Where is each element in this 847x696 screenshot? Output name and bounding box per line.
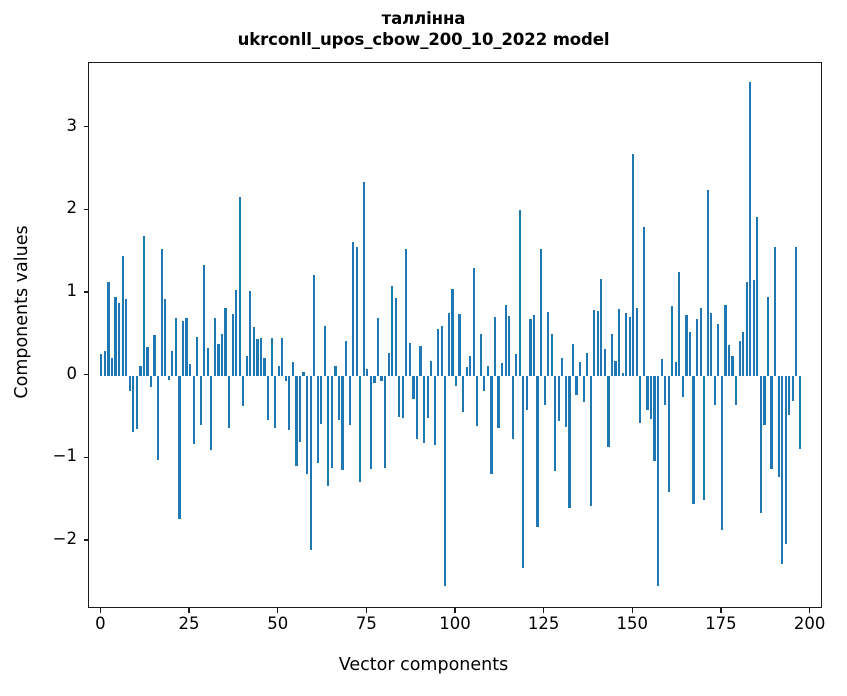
bar bbox=[763, 376, 765, 426]
bar bbox=[437, 329, 439, 375]
bar bbox=[494, 317, 496, 376]
y-tick-mark bbox=[84, 209, 89, 210]
bar bbox=[398, 376, 400, 417]
x-tick-label: 0 bbox=[95, 614, 106, 633]
bar bbox=[310, 376, 312, 551]
bar bbox=[423, 376, 425, 443]
bar bbox=[150, 376, 152, 388]
bar bbox=[664, 376, 666, 406]
bar bbox=[405, 249, 407, 376]
bar bbox=[288, 376, 290, 431]
bar bbox=[441, 326, 443, 376]
bar bbox=[246, 356, 248, 376]
bar bbox=[685, 315, 687, 375]
bar bbox=[604, 349, 606, 375]
bar bbox=[455, 376, 457, 386]
chart-title: таллінна ukrconll_upos_cbow_200_10_2022 … bbox=[0, 8, 847, 50]
bar bbox=[324, 326, 326, 376]
bar bbox=[132, 376, 134, 432]
bar bbox=[611, 334, 613, 375]
x-tick-mark bbox=[809, 608, 810, 613]
bar bbox=[157, 376, 159, 460]
bar bbox=[207, 348, 209, 376]
bar bbox=[650, 376, 652, 419]
bar bbox=[338, 376, 340, 421]
x-tick-label: 150 bbox=[617, 614, 649, 633]
bar bbox=[770, 376, 772, 469]
bar bbox=[597, 311, 599, 376]
bar bbox=[122, 256, 124, 376]
bar bbox=[171, 351, 173, 376]
bar bbox=[703, 376, 705, 500]
bar bbox=[657, 376, 659, 586]
bar bbox=[427, 376, 429, 418]
bar bbox=[175, 318, 177, 376]
bar bbox=[168, 376, 170, 380]
bar bbox=[469, 356, 471, 376]
bar bbox=[497, 376, 499, 428]
bar bbox=[526, 376, 528, 410]
bar bbox=[260, 338, 262, 376]
bar bbox=[210, 376, 212, 450]
x-tick-mark bbox=[632, 608, 633, 613]
bar bbox=[327, 376, 329, 486]
bar bbox=[721, 376, 723, 531]
bar bbox=[586, 353, 588, 375]
bar bbox=[412, 376, 414, 399]
bar bbox=[785, 376, 787, 544]
chart-title-line-2: ukrconll_upos_cbow_200_10_2022 model bbox=[0, 29, 847, 50]
bar bbox=[622, 373, 624, 375]
bar bbox=[185, 318, 187, 376]
bar bbox=[614, 361, 616, 376]
bar bbox=[302, 372, 304, 376]
bar bbox=[629, 317, 631, 376]
bar bbox=[256, 339, 258, 375]
y-tick-mark bbox=[84, 291, 89, 292]
bar bbox=[395, 298, 397, 376]
y-tick-label: 1 bbox=[0, 281, 77, 300]
bar bbox=[267, 376, 269, 421]
bar bbox=[214, 318, 216, 376]
bar bbox=[341, 376, 343, 470]
x-tick-label: 100 bbox=[439, 614, 471, 633]
x-tick-mark bbox=[720, 608, 721, 613]
bar bbox=[473, 268, 475, 376]
bar bbox=[544, 376, 546, 405]
bar bbox=[235, 290, 237, 376]
bar bbox=[536, 376, 538, 527]
y-tick-label: −1 bbox=[0, 446, 77, 465]
bar bbox=[710, 313, 712, 376]
bar bbox=[724, 305, 726, 375]
bar bbox=[579, 362, 581, 376]
bar bbox=[299, 376, 301, 442]
bar bbox=[107, 282, 109, 375]
bar bbox=[451, 289, 453, 376]
bar bbox=[391, 286, 393, 375]
bar bbox=[249, 291, 251, 376]
bar bbox=[515, 354, 517, 376]
bar bbox=[388, 353, 390, 375]
bar bbox=[232, 314, 234, 375]
bar bbox=[161, 249, 163, 376]
bar bbox=[788, 376, 790, 415]
bar bbox=[480, 334, 482, 376]
bar bbox=[345, 341, 347, 376]
bar bbox=[143, 236, 145, 376]
bar bbox=[118, 303, 120, 376]
bar bbox=[632, 154, 634, 376]
bar bbox=[593, 310, 595, 376]
bar bbox=[363, 182, 365, 376]
bar bbox=[189, 364, 191, 376]
bar bbox=[466, 367, 468, 375]
bar bbox=[196, 337, 198, 376]
bar bbox=[565, 376, 567, 427]
bar bbox=[146, 347, 148, 376]
bar bbox=[104, 351, 106, 376]
chart-title-line-1: таллінна bbox=[0, 8, 847, 29]
bar bbox=[501, 363, 503, 375]
bar bbox=[114, 297, 116, 376]
bar bbox=[505, 305, 507, 376]
bar bbox=[203, 265, 205, 376]
bar bbox=[795, 247, 797, 375]
bar bbox=[717, 324, 719, 376]
bar bbox=[653, 376, 655, 461]
y-tick-mark bbox=[84, 457, 89, 458]
bar bbox=[402, 376, 404, 418]
bar bbox=[607, 376, 609, 447]
bar bbox=[643, 227, 645, 376]
bar bbox=[125, 299, 127, 376]
bar bbox=[200, 376, 202, 426]
bar bbox=[217, 344, 219, 375]
bar bbox=[568, 376, 570, 508]
y-tick-mark bbox=[84, 126, 89, 127]
bar bbox=[292, 362, 294, 376]
bar bbox=[462, 376, 464, 412]
bar bbox=[164, 299, 166, 376]
y-tick-label: 0 bbox=[0, 364, 77, 383]
bar bbox=[731, 356, 733, 376]
y-tick-label: −2 bbox=[0, 529, 77, 548]
bar bbox=[707, 190, 709, 375]
y-tick-label: 2 bbox=[0, 198, 77, 217]
bar bbox=[153, 335, 155, 376]
bar bbox=[377, 318, 379, 376]
bar bbox=[224, 308, 226, 376]
bar bbox=[359, 376, 361, 482]
bar bbox=[278, 366, 280, 376]
bar bbox=[512, 376, 514, 440]
bar bbox=[458, 314, 460, 376]
bar bbox=[533, 315, 535, 375]
bar bbox=[129, 376, 131, 392]
bar bbox=[320, 376, 322, 424]
bar bbox=[352, 242, 354, 376]
x-tick-label: 25 bbox=[179, 614, 200, 633]
bar bbox=[767, 297, 769, 376]
bar bbox=[409, 343, 411, 376]
bar bbox=[285, 376, 287, 382]
bar bbox=[263, 358, 265, 376]
bar bbox=[444, 376, 446, 586]
x-tick-mark bbox=[454, 608, 455, 613]
bar bbox=[139, 366, 141, 376]
bar bbox=[331, 376, 333, 469]
bar bbox=[746, 282, 748, 375]
bar bbox=[668, 376, 670, 492]
bar bbox=[508, 316, 510, 376]
bar bbox=[558, 376, 560, 422]
bar bbox=[547, 312, 549, 376]
bar bbox=[700, 308, 702, 376]
bar bbox=[756, 217, 758, 376]
bar bbox=[682, 376, 684, 398]
bar bbox=[178, 376, 180, 519]
bar bbox=[221, 334, 223, 375]
bar bbox=[349, 376, 351, 425]
bar-series bbox=[89, 63, 821, 607]
bar bbox=[295, 376, 297, 466]
bar bbox=[334, 366, 336, 376]
bar bbox=[714, 376, 716, 405]
bar bbox=[689, 332, 691, 376]
bar bbox=[671, 306, 673, 375]
bar bbox=[646, 376, 648, 411]
bar bbox=[561, 358, 563, 375]
bar bbox=[678, 272, 680, 375]
bar bbox=[271, 338, 273, 376]
bar bbox=[416, 376, 418, 439]
bar bbox=[778, 376, 780, 477]
bar bbox=[625, 313, 627, 376]
bar bbox=[661, 359, 663, 376]
bar bbox=[448, 313, 450, 376]
bar bbox=[529, 319, 531, 376]
bar bbox=[760, 376, 762, 513]
bar bbox=[313, 275, 315, 376]
bar bbox=[583, 376, 585, 402]
bar bbox=[600, 279, 602, 376]
bar bbox=[239, 197, 241, 376]
bar bbox=[434, 376, 436, 445]
x-tick-mark bbox=[277, 608, 278, 613]
bar bbox=[281, 338, 283, 375]
bar bbox=[753, 280, 755, 376]
bar bbox=[182, 321, 184, 376]
bar bbox=[274, 376, 276, 428]
bar bbox=[742, 332, 744, 376]
bar bbox=[799, 376, 801, 449]
bar bbox=[590, 376, 592, 507]
bar bbox=[193, 376, 195, 445]
bar bbox=[749, 82, 751, 376]
y-tick-mark bbox=[84, 374, 89, 375]
bar bbox=[618, 309, 620, 376]
bar bbox=[735, 376, 737, 405]
bar bbox=[490, 376, 492, 474]
bar bbox=[136, 376, 138, 429]
bar bbox=[242, 376, 244, 407]
bar bbox=[370, 376, 372, 469]
x-tick-mark bbox=[543, 608, 544, 613]
bar bbox=[636, 308, 638, 376]
x-tick-mark bbox=[100, 608, 101, 613]
bar bbox=[639, 376, 641, 423]
y-tick-mark bbox=[84, 539, 89, 540]
y-tick-label: 3 bbox=[0, 116, 77, 135]
bar bbox=[419, 346, 421, 376]
x-tick-label: 50 bbox=[267, 614, 288, 633]
bar bbox=[739, 341, 741, 376]
bar bbox=[692, 376, 694, 504]
x-tick-label: 75 bbox=[356, 614, 377, 633]
x-axis-label: Vector components bbox=[0, 655, 847, 675]
bar bbox=[781, 376, 783, 565]
bar bbox=[728, 345, 730, 376]
bar bbox=[384, 376, 386, 469]
bar bbox=[430, 361, 432, 376]
figure: таллінна ukrconll_upos_cbow_200_10_2022 … bbox=[0, 0, 847, 696]
bar bbox=[551, 334, 553, 375]
bar bbox=[373, 376, 375, 383]
bar bbox=[111, 358, 113, 375]
x-tick-label: 125 bbox=[528, 614, 560, 633]
bar bbox=[575, 376, 577, 395]
bar bbox=[696, 319, 698, 376]
bar bbox=[519, 210, 521, 375]
x-tick-mark bbox=[366, 608, 367, 613]
x-tick-mark bbox=[188, 608, 189, 613]
bar bbox=[228, 376, 230, 428]
bar bbox=[100, 354, 102, 376]
bar bbox=[572, 344, 574, 375]
bar bbox=[476, 376, 478, 426]
bar bbox=[380, 376, 382, 382]
bar bbox=[366, 369, 368, 376]
bar bbox=[540, 249, 542, 376]
bar bbox=[774, 247, 776, 375]
x-tick-label: 200 bbox=[794, 614, 826, 633]
bar bbox=[554, 376, 556, 471]
bar bbox=[487, 366, 489, 376]
bar bbox=[356, 247, 358, 376]
bar bbox=[253, 327, 255, 376]
x-tick-label: 175 bbox=[705, 614, 737, 633]
bar bbox=[522, 376, 524, 569]
bar bbox=[675, 362, 677, 376]
bar bbox=[306, 376, 308, 474]
bar bbox=[317, 376, 319, 464]
bar bbox=[792, 376, 794, 402]
bar bbox=[483, 376, 485, 391]
plot-axes bbox=[88, 62, 822, 608]
